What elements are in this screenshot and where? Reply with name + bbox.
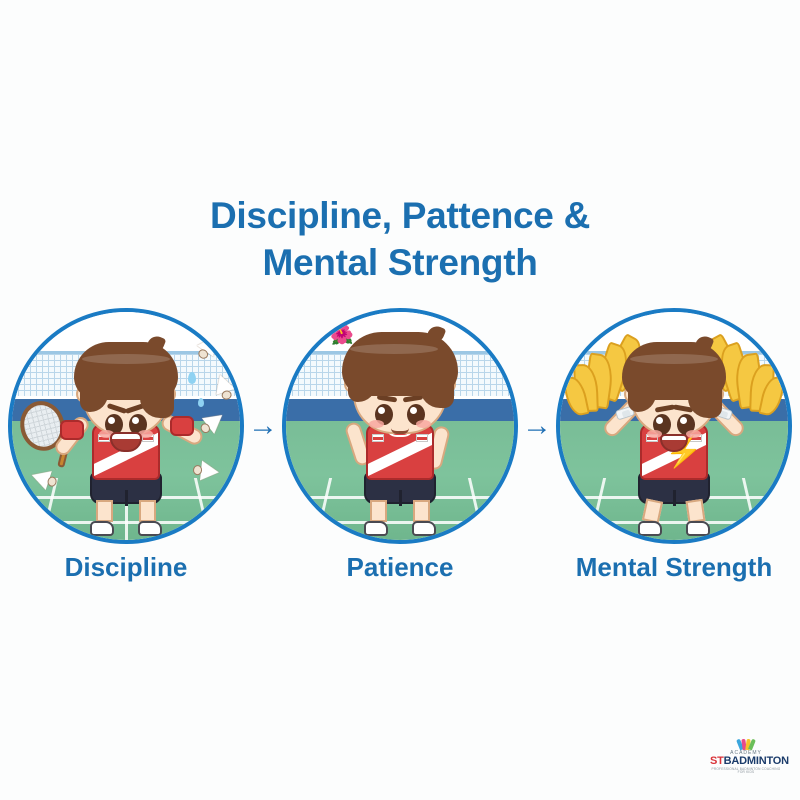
blush-right bbox=[686, 430, 701, 438]
step-circle-row: → 🌺 bbox=[0, 308, 800, 544]
court-line bbox=[589, 478, 606, 540]
leg-left bbox=[642, 498, 663, 523]
step-circle-discipline[interactable] bbox=[8, 308, 244, 544]
logo-st-text: ST bbox=[710, 755, 724, 767]
shoe-left bbox=[364, 521, 388, 536]
blush-left bbox=[369, 420, 384, 428]
shoe-left bbox=[638, 521, 662, 536]
blush-right bbox=[416, 420, 431, 428]
sweat-drop-icon bbox=[198, 398, 204, 407]
leg-right bbox=[413, 500, 430, 522]
shuttlecock-logo-icon bbox=[738, 736, 754, 750]
arrow-1-icon: → bbox=[244, 411, 282, 441]
character-head bbox=[622, 342, 726, 438]
shoe-right bbox=[686, 521, 710, 536]
page-title-line-2: Mental Strength bbox=[0, 239, 800, 286]
logo-tagline: PROFESSIONAL BADMINTON COACHING FOR KIDS bbox=[710, 768, 782, 774]
circle-frame-patience: 🌺 bbox=[282, 308, 518, 544]
poster-canvas: Discipline, Pattence & Mental Strength bbox=[0, 0, 800, 800]
eyebrow-left bbox=[107, 403, 128, 414]
page-title: Discipline, Pattence & Mental Strength bbox=[0, 192, 800, 287]
court-line bbox=[193, 478, 210, 540]
court-line bbox=[741, 478, 758, 540]
character-legs bbox=[363, 472, 437, 536]
mouth-neutral bbox=[391, 428, 409, 434]
logo-badminton-text: BADMINTON bbox=[724, 755, 789, 767]
badminton-court-scene-1 bbox=[12, 312, 240, 540]
logo-brand-text: STBADMINTON bbox=[710, 756, 782, 767]
shoe-right bbox=[412, 521, 436, 536]
shuttlecock-icon bbox=[192, 460, 220, 483]
eyebrow-left bbox=[655, 404, 676, 412]
step-label-patience: Patience bbox=[282, 552, 518, 583]
leg-right bbox=[139, 500, 156, 522]
badminton-court-scene-3: ⚡ bbox=[560, 312, 788, 540]
character-legs bbox=[89, 472, 163, 536]
circle-frame-mental-strength: ⚡ bbox=[556, 308, 792, 544]
arrow-2-icon: → bbox=[518, 411, 556, 441]
step-label-discipline: Discipline bbox=[8, 552, 244, 583]
step-circle-patience[interactable]: 🌺 bbox=[282, 308, 518, 544]
badminton-court-scene-2: 🌺 bbox=[286, 312, 514, 540]
leg-left bbox=[96, 500, 113, 522]
step-circle-mental-strength[interactable]: ⚡ bbox=[556, 308, 792, 544]
brand-logo[interactable]: ACADEMY STBADMINTON PROFESSIONAL BADMINT… bbox=[710, 736, 782, 774]
character-head bbox=[74, 342, 178, 438]
character-head bbox=[342, 332, 458, 440]
character-mental-strength: ⚡ bbox=[610, 346, 738, 536]
character-patience bbox=[330, 346, 470, 536]
shoe-right bbox=[138, 521, 162, 536]
page-title-line-1: Discipline, Pattence & bbox=[0, 192, 800, 239]
step-label-row: Discipline Patience Mental Strength bbox=[0, 550, 800, 584]
sweat-drop-icon bbox=[188, 372, 196, 384]
leg-right bbox=[686, 499, 706, 523]
circle-frame-discipline bbox=[8, 308, 244, 544]
step-label-mental-strength: Mental Strength bbox=[556, 552, 792, 583]
character-discipline bbox=[62, 346, 190, 536]
shoe-left bbox=[90, 521, 114, 536]
leg-left bbox=[370, 500, 387, 522]
character-legs bbox=[637, 472, 711, 536]
